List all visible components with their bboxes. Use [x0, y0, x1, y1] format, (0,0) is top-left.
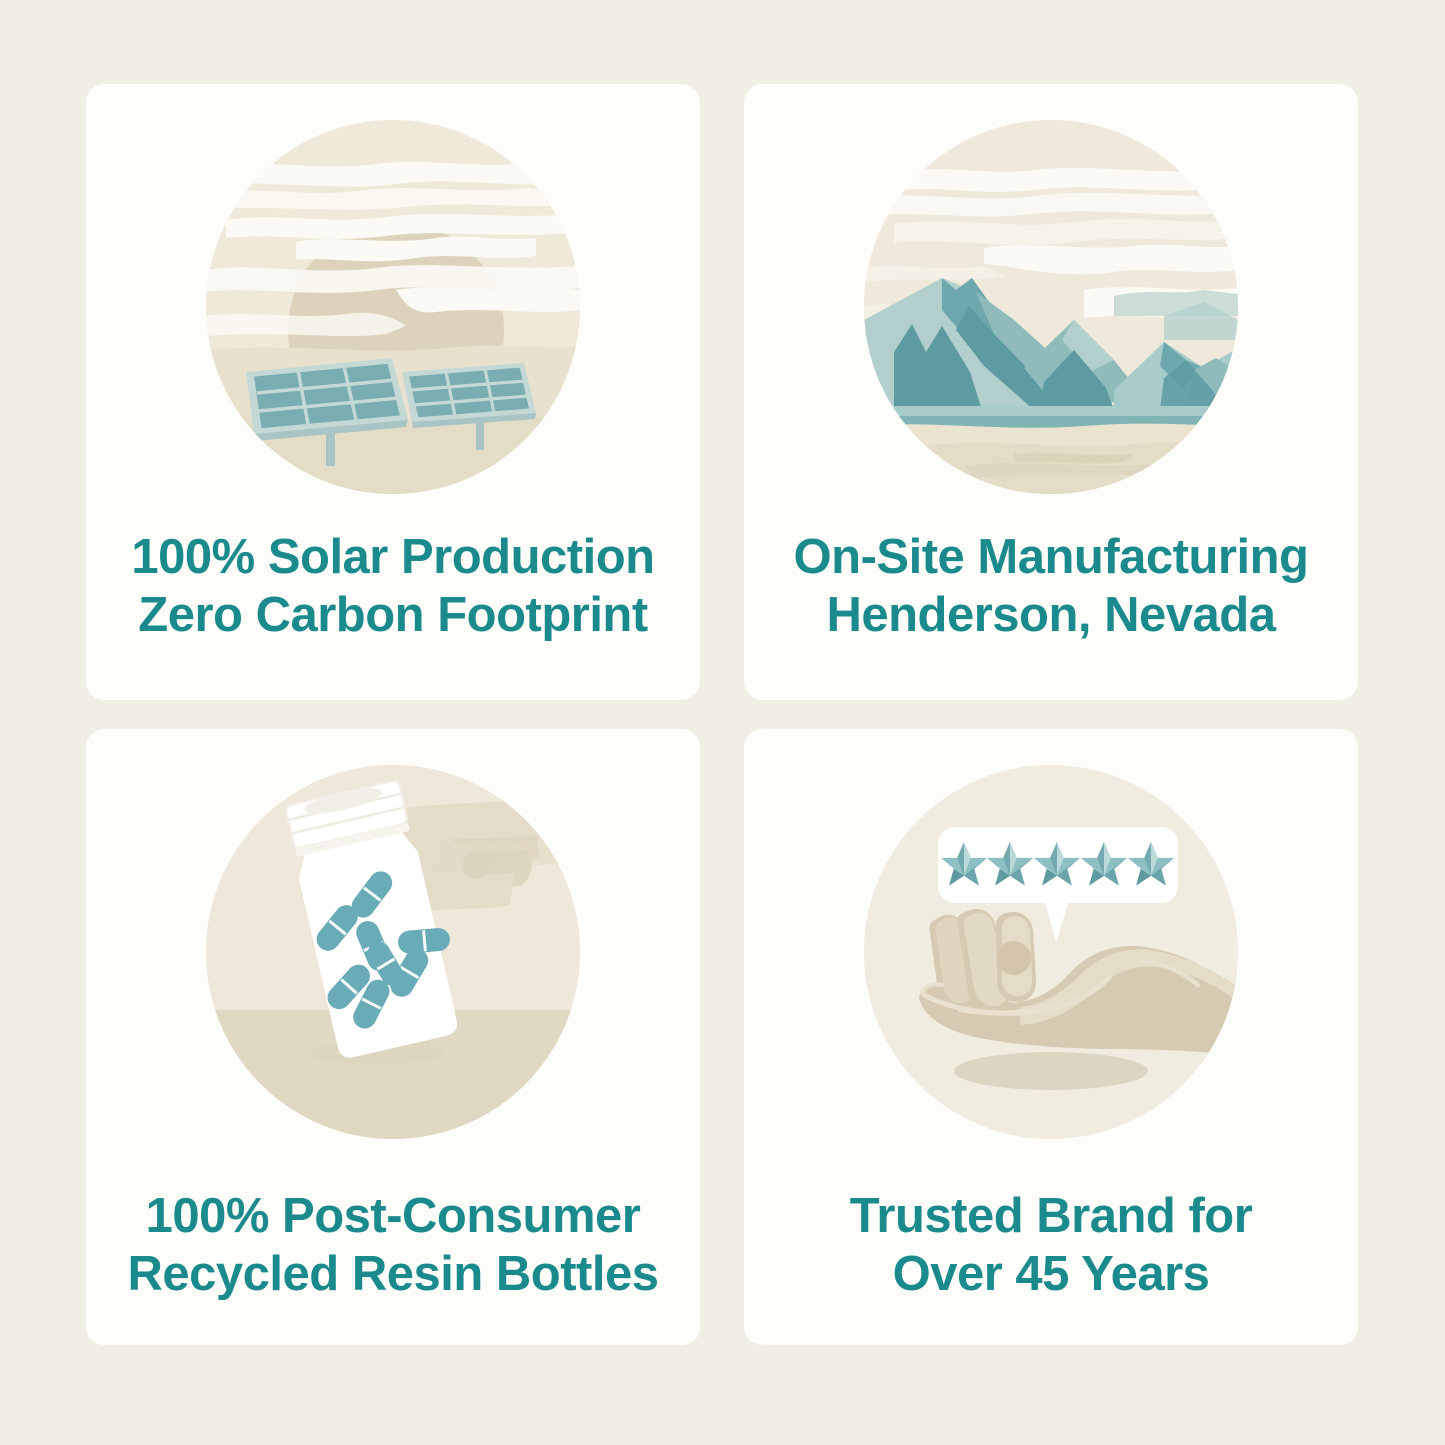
benefit-card-recycled-resin-bottles[interactable]: 100% Post-Consumer Recycled Resin Bottle…: [86, 729, 700, 1345]
solar-panels-illustration: [206, 120, 580, 494]
benefit-title-on-site-manufacturing: On-Site Manufacturing Henderson, Nevada: [782, 528, 1321, 644]
benefit-card-solar-production[interactable]: 100% Solar Production Zero Carbon Footpr…: [86, 84, 700, 700]
benefits-grid: 100% Solar Production Zero Carbon Footpr…: [86, 84, 1358, 1345]
hand-holding-five-star-rating-illustration: [864, 765, 1238, 1139]
benefit-title-trusted-brand: Trusted Brand for Over 45 Years: [838, 1187, 1265, 1303]
mountain-landscape-illustration: [864, 120, 1238, 494]
benefit-title-recycled-resin-bottles: 100% Post-Consumer Recycled Resin Bottle…: [116, 1187, 671, 1303]
benefit-title-solar-production: 100% Solar Production Zero Carbon Footpr…: [119, 528, 666, 644]
benefit-card-trusted-brand[interactable]: Trusted Brand for Over 45 Years: [744, 729, 1358, 1345]
benefit-card-on-site-manufacturing[interactable]: On-Site Manufacturing Henderson, Nevada: [744, 84, 1358, 700]
supplement-bottle-illustration: [206, 765, 580, 1139]
